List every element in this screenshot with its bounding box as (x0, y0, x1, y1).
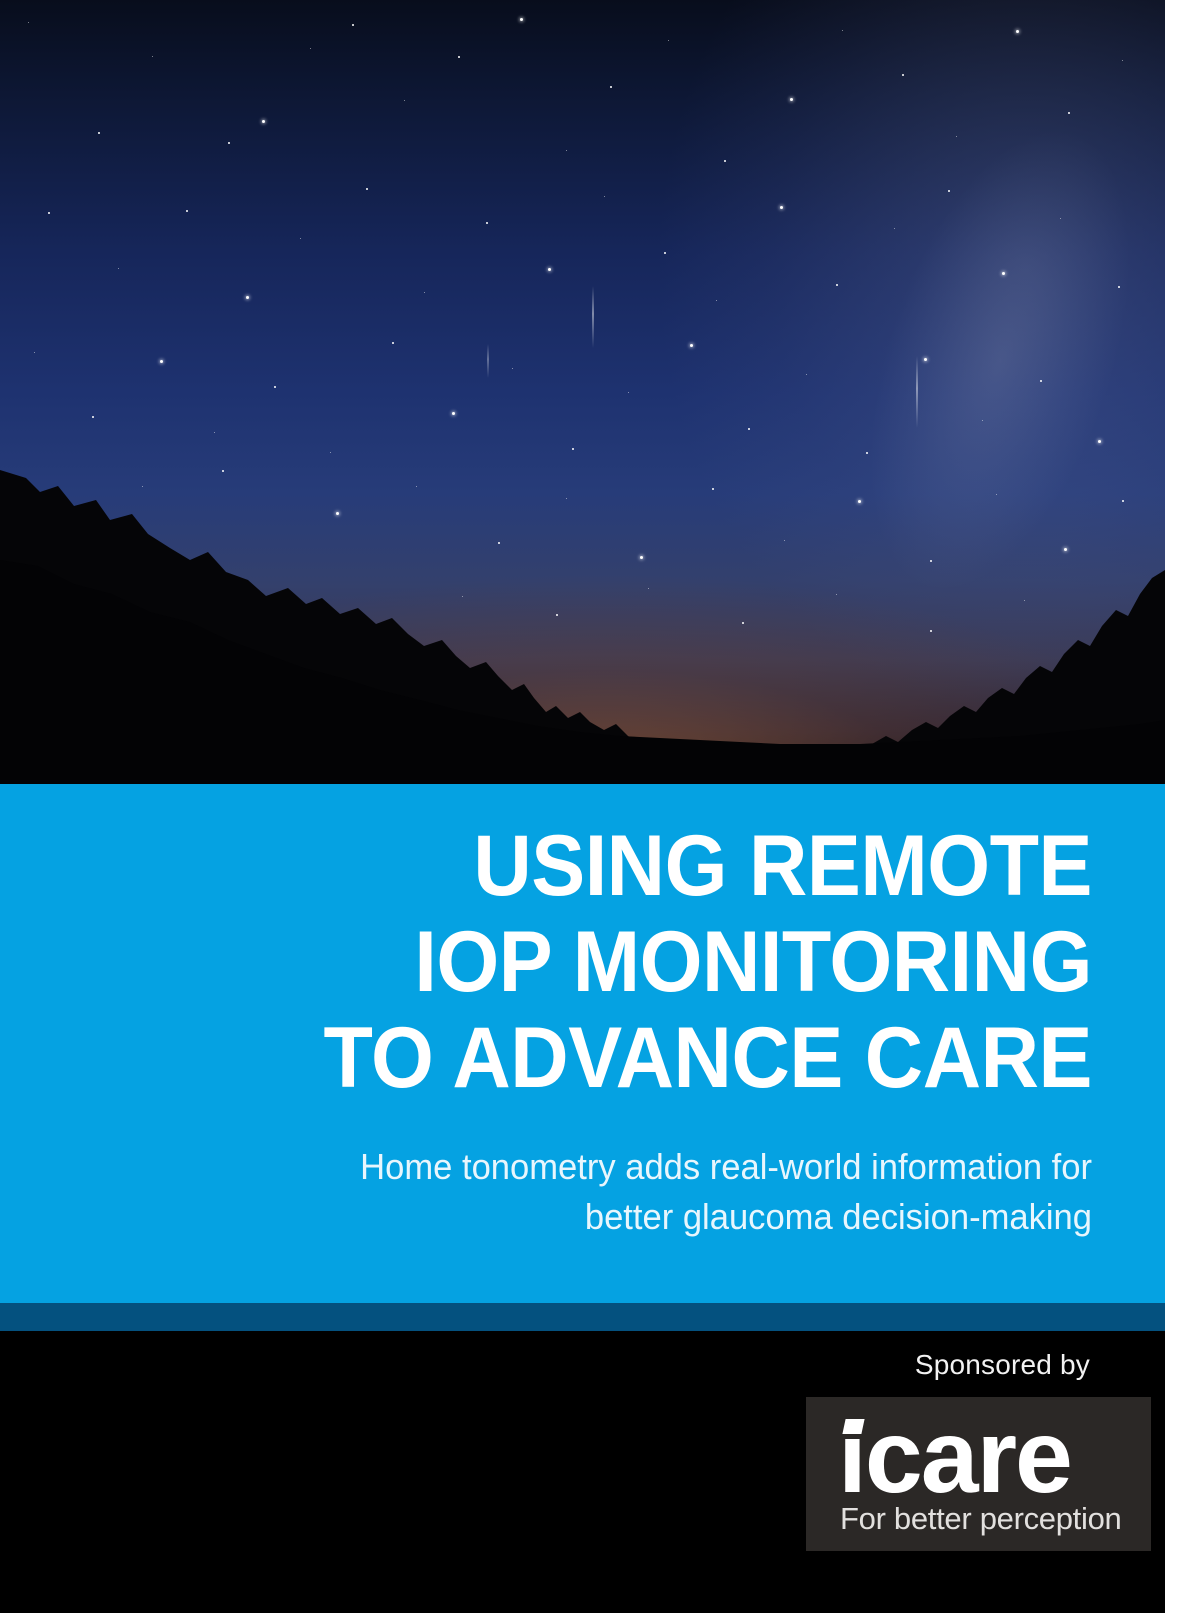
icare-wordmark: icare (838, 1401, 1071, 1513)
sponsored-by-label: Sponsored by (915, 1349, 1090, 1381)
icare-i-dot-icon (842, 1419, 864, 1434)
hero-night-sky-photo (0, 0, 1165, 784)
subtitle-line-1: Home tonometry adds real-world informati… (44, 1142, 1092, 1192)
sponsor-footer: Sponsored by icare For better perception (0, 1331, 1165, 1613)
subtitle-line-2: better glaucoma decision-making (44, 1192, 1092, 1242)
report-cover-page: USING REMOTE IOP MONITORING TO ADVANCE C… (0, 0, 1165, 1613)
forest-ridge-silhouette (0, 0, 1165, 784)
icare-logo[interactable]: icare For better perception (806, 1397, 1151, 1551)
icare-tagline: For better perception (840, 1501, 1121, 1537)
title-line-2: IOP MONITORING (66, 914, 1092, 1010)
page-subtitle: Home tonometry adds real-world informati… (44, 1106, 1092, 1242)
page-title: USING REMOTE IOP MONITORING TO ADVANCE C… (66, 784, 1092, 1106)
title-band: USING REMOTE IOP MONITORING TO ADVANCE C… (0, 784, 1165, 1303)
title-line-1: USING REMOTE (66, 818, 1092, 914)
title-line-3: TO ADVANCE CARE (66, 1010, 1092, 1106)
accent-rule (0, 1303, 1165, 1331)
